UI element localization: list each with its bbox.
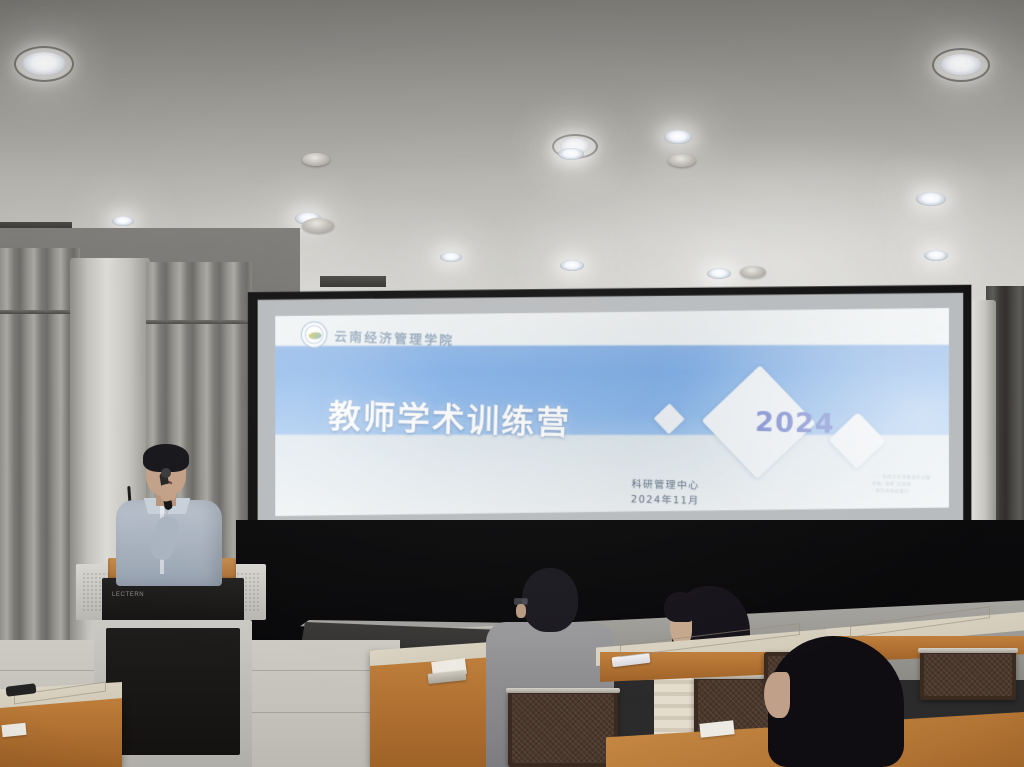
downlight-icon — [558, 148, 584, 160]
downlight-icon — [924, 250, 948, 261]
chair-1-top-rail — [506, 688, 620, 693]
attendee-3-face — [764, 672, 790, 718]
curtain-rod — [0, 310, 80, 314]
slide-title: 教师学术训练营 — [328, 390, 572, 445]
slide-header: 云南经济管理学院 — [300, 321, 454, 353]
diamond-small-icon — [654, 403, 685, 434]
downlight-icon — [440, 252, 462, 262]
downlight-trim-icon — [14, 46, 74, 82]
chair-1 — [508, 690, 618, 767]
ceiling-speaker-icon — [668, 154, 696, 167]
podium-brand-label: LECTERN — [112, 592, 144, 598]
presentation-slide: 云南经济管理学院 教师学术训练营 2024 科研管理中心 2024年11月 ··… — [275, 308, 949, 518]
microphone-capsule-icon — [161, 468, 171, 478]
downlight-trim-icon — [932, 48, 990, 82]
attendee-2-hair-front — [664, 592, 694, 622]
downlight-icon — [112, 216, 134, 226]
ceiling-vent-icon — [320, 276, 386, 287]
chair-3 — [920, 650, 1016, 700]
year-badge: 2024 — [724, 406, 866, 441]
chair-1-backrest — [512, 694, 614, 763]
slide-date: 2024年11月 — [631, 493, 700, 509]
ceiling-speaker-icon — [302, 218, 334, 233]
ceiling-speaker-icon — [740, 266, 766, 278]
osd-line-3: · 请勿关闭此窗口 — [872, 488, 931, 497]
downlight-icon — [916, 192, 946, 206]
paper-stack — [1, 723, 26, 737]
projection-screen: 云南经济管理学院 教师学术训练营 2024 科研管理中心 2024年11月 ··… — [248, 285, 972, 540]
lecture-hall-photo: 云南经济管理学院 教师学术训练营 2024 科研管理中心 2024年11月 ··… — [0, 0, 1024, 767]
university-seal-icon — [300, 321, 328, 349]
school-name: 云南经济管理学院 — [334, 326, 455, 349]
attendee-1-head — [522, 568, 578, 632]
chair-3-top-rail — [918, 648, 1018, 653]
downlight-icon — [664, 130, 692, 144]
screen-border: 云南经济管理学院 教师学术训练营 2024 科研管理中心 2024年11月 ··… — [258, 293, 964, 531]
curtain-rod — [146, 320, 252, 324]
downlight-icon — [560, 260, 584, 271]
attendee-3 — [762, 636, 910, 767]
attendee-1-ear — [516, 604, 526, 618]
ceiling-speaker-icon — [302, 153, 330, 166]
podium-cabinet-door — [106, 628, 240, 755]
downlight-icon — [707, 268, 731, 279]
slide-footer: 科研管理中心 2024年11月 — [631, 478, 700, 509]
organizer-name: 科研管理中心 — [631, 478, 700, 494]
projector-osd-overlay: ····· 系统正在准备演示设备 设备: 投影 已连接 · 请勿关闭此窗口 — [872, 474, 931, 497]
diamond-graphic: 2024 — [649, 367, 949, 485]
chair-3-backrest — [924, 654, 1012, 696]
presenter — [110, 448, 230, 578]
